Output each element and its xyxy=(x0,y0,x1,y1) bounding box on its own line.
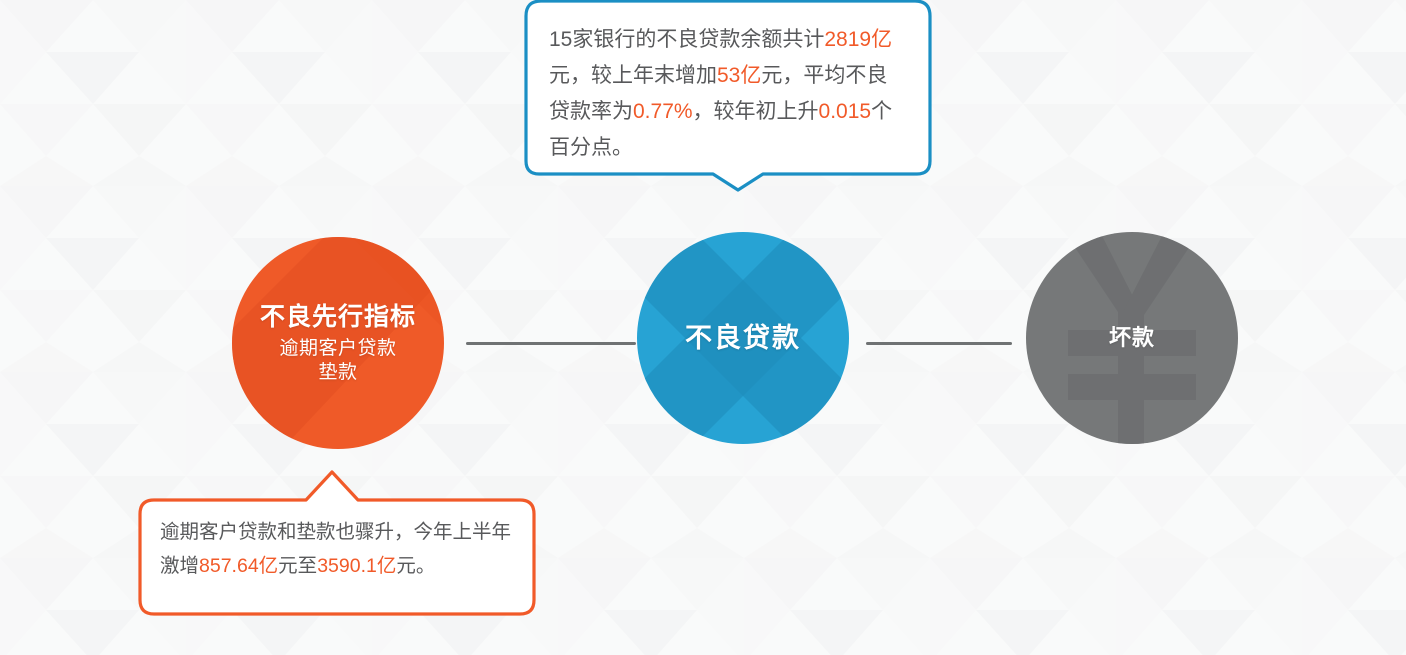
node-orange-subtitle-line1: 逾期客户贷款 xyxy=(232,337,444,361)
callout-text-segment-0: 15家银行的不良贷款余额共计 xyxy=(549,28,824,51)
callout-text-segment-1: 2819亿 xyxy=(824,28,892,51)
callout-text-segment-4: 元。 xyxy=(396,555,435,577)
node-blue-title: 不良贷款 xyxy=(637,321,849,356)
callout-text-segment-6: ，较年初上升 xyxy=(693,100,819,123)
callout-npl-summary-text: 15家银行的不良贷款余额共计2819亿元，较上年末增加53亿元，平均不良贷款率为… xyxy=(523,0,933,166)
node-gray-labels: 坏款 xyxy=(1026,324,1238,352)
node-orange-title: 不良先行指标 xyxy=(232,301,444,333)
node-orange-labels: 不良先行指标 逾期客户贷款 垫款 xyxy=(232,301,444,386)
callout-npl-summary: 15家银行的不良贷款余额共计2819亿元，较上年末增加53亿元，平均不良贷款率为… xyxy=(523,0,933,194)
node-gray-title: 坏款 xyxy=(1026,324,1238,352)
callout-text-segment-2: 元，较上年末增加 xyxy=(549,64,717,87)
callout-text-segment-7: 0.015 xyxy=(819,100,872,123)
callout-text-segment-3: 3590.1亿 xyxy=(317,555,396,577)
callout-overdue-loan-text: 逾期客户贷款和垫款也骤升，今年上半年激增857.64亿元至3590.1亿元。 xyxy=(136,468,538,583)
callout-overdue-loan: 逾期客户贷款和垫款也骤升，今年上半年激增857.64亿元至3590.1亿元。 xyxy=(136,468,538,618)
node-orange-subtitle-line2: 垫款 xyxy=(232,361,444,385)
connector-line-blue-to-gray xyxy=(866,342,1012,345)
node-non-performing-loans[interactable]: 不良贷款 xyxy=(637,232,849,444)
callout-text-segment-5: 0.77% xyxy=(633,100,693,123)
callout-text-segment-2: 元至 xyxy=(278,555,317,577)
connector-line-orange-to-blue xyxy=(466,342,636,345)
node-bad-debt[interactable]: 坏款 xyxy=(1026,232,1238,444)
callout-text-segment-3: 53亿 xyxy=(717,64,761,87)
node-blue-labels: 不良贷款 xyxy=(637,321,849,356)
node-bad-loan-leading-indicator[interactable]: 不良先行指标 逾期客户贷款 垫款 xyxy=(232,237,444,449)
callout-text-segment-1: 857.64亿 xyxy=(199,555,278,577)
